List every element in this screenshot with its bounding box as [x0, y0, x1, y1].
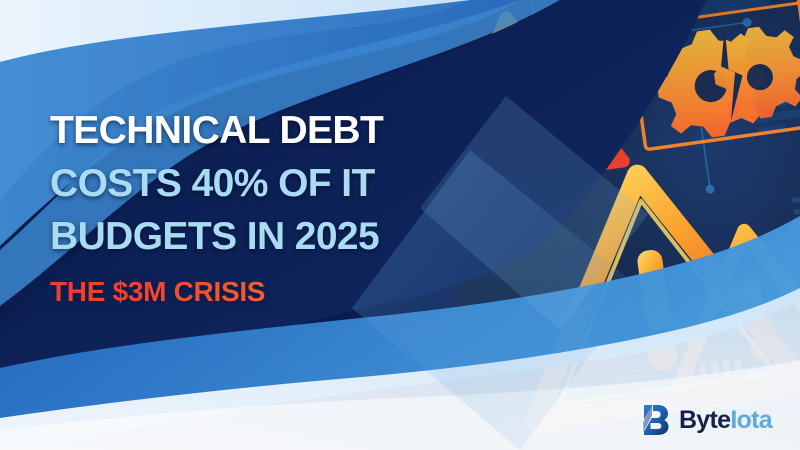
headline-line-2: COSTS 40% OF IT: [50, 157, 520, 210]
logo-wordmark: ByteIota: [679, 408, 772, 433]
banner: TECHNICAL DEBT COSTS 40% OF IT BUDGETS I…: [0, 0, 800, 450]
logo-b-mark-icon: [640, 404, 670, 436]
subtitle: THE $3M CRISIS: [50, 275, 520, 309]
logo-text-byte: Byte: [679, 406, 730, 434]
headline-line-3: BUDGETS IN 2025: [50, 210, 520, 263]
headline-line-1: TECHNICAL DEBT: [50, 104, 520, 157]
brand-logo[interactable]: ByteIota: [640, 404, 772, 436]
logo-text-iota: Iota: [730, 406, 772, 434]
headline-block: TECHNICAL DEBT COSTS 40% OF IT BUDGETS I…: [50, 104, 520, 309]
